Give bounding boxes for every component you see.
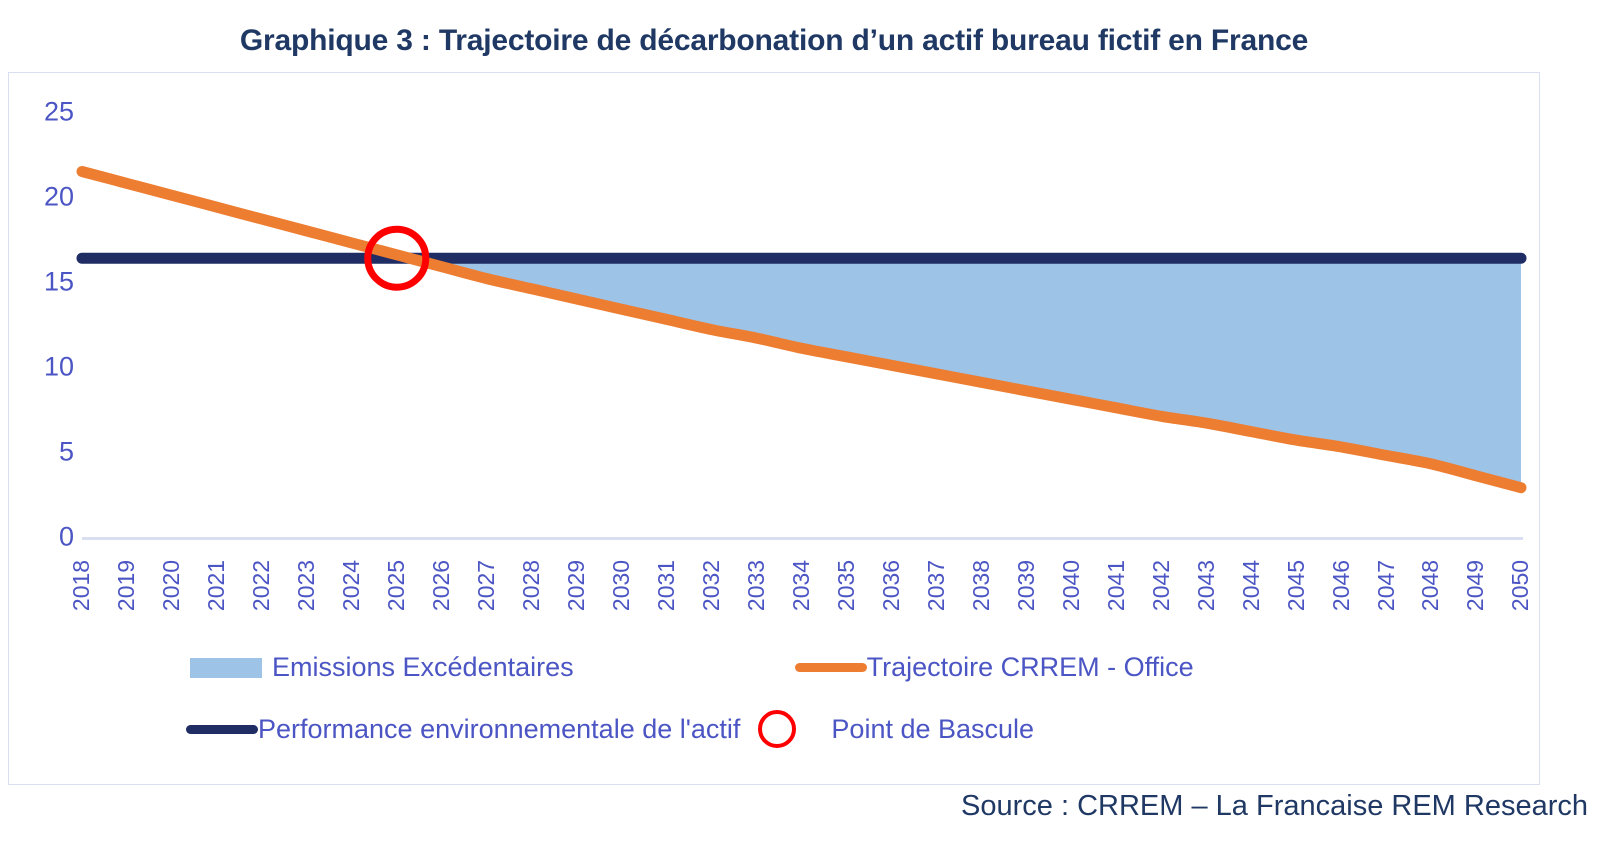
page-title: Graphique 3 : Trajectoire de décarbonati… <box>0 24 1548 58</box>
source-note: Source : CRREM – La Francaise REM Resear… <box>961 790 1588 823</box>
chart-canvas <box>82 112 1521 537</box>
x-axis-tick-2047: 2047 <box>1375 542 1397 628</box>
x-axis-tick-2027: 2027 <box>476 542 498 628</box>
x-axis-tick-2049: 2049 <box>1465 542 1487 628</box>
legend-label-performance-environnementale: Performance environnementale de l'actif <box>258 714 740 745</box>
x-axis-tick-2018: 2018 <box>71 542 93 628</box>
x-axis-tick-2050: 2050 <box>1510 542 1532 628</box>
x-axis-tick-2019: 2019 <box>116 542 138 628</box>
legend-item-point-de-bascule[interactable]: Point de Bascule <box>758 710 1034 748</box>
x-axis-tick-2024: 2024 <box>341 542 363 628</box>
x-axis-tick-2038: 2038 <box>970 542 992 628</box>
x-axis-tick-2039: 2039 <box>1015 542 1037 628</box>
x-axis-tick-2032: 2032 <box>701 542 723 628</box>
y-axis-tick-5: 5 <box>0 437 74 468</box>
y-axis-tick-15: 15 <box>0 267 74 298</box>
legend-item-trajectoire-crrem-office[interactable]: Trajectoire CRREM - Office <box>795 652 1194 683</box>
x-axis-tick-2045: 2045 <box>1285 542 1307 628</box>
chart-page: Graphique 3 : Trajectoire de décarbonati… <box>0 0 1600 857</box>
line-swatch-icon-navy <box>186 725 258 734</box>
x-axis-tick-2035: 2035 <box>835 542 857 628</box>
x-axis-tick-2037: 2037 <box>925 542 947 628</box>
circle-marker-icon <box>758 710 796 748</box>
area-swatch-icon <box>190 658 262 678</box>
x-axis-tick-2028: 2028 <box>521 542 543 628</box>
x-axis-tick-2046: 2046 <box>1330 542 1352 628</box>
x-axis-tick-2043: 2043 <box>1195 542 1217 628</box>
x-axis-tick-2031: 2031 <box>656 542 678 628</box>
x-axis-tick-2044: 2044 <box>1240 542 1262 628</box>
x-axis-tick-2026: 2026 <box>431 542 453 628</box>
x-axis-tick-2034: 2034 <box>791 542 813 628</box>
chart-legend: Emissions Excédentaires Trajectoire CRRE… <box>8 640 1540 760</box>
x-axis-tick-2022: 2022 <box>251 542 273 628</box>
y-axis-tick-10: 10 <box>0 352 74 383</box>
x-axis-tick-2036: 2036 <box>880 542 902 628</box>
x-axis-tick-2042: 2042 <box>1150 542 1172 628</box>
y-axis-tick-25: 25 <box>0 97 74 128</box>
legend-label-emissions-excedentaires: Emissions Excédentaires <box>272 652 574 683</box>
x-axis-tick-2030: 2030 <box>611 542 633 628</box>
x-axis-tick-2021: 2021 <box>206 542 228 628</box>
x-axis-tick-2029: 2029 <box>566 542 588 628</box>
x-axis-tick-2048: 2048 <box>1420 542 1442 628</box>
x-axis-tick-2025: 2025 <box>386 542 408 628</box>
y-axis-tick-0: 0 <box>0 522 74 553</box>
x-axis-line <box>82 537 1523 540</box>
legend-row-2: Performance environnementale de l'actif … <box>8 710 1408 748</box>
legend-label-point-de-bascule: Point de Bascule <box>831 714 1034 745</box>
x-axis-tick-2041: 2041 <box>1105 542 1127 628</box>
legend-label-trajectoire-crrem-office: Trajectoire CRREM - Office <box>867 652 1194 683</box>
legend-row-1: Emissions Excédentaires Trajectoire CRRE… <box>8 652 1408 683</box>
x-axis-tick-2023: 2023 <box>296 542 318 628</box>
x-axis-tick-2033: 2033 <box>746 542 768 628</box>
y-axis-tick-20: 20 <box>0 182 74 213</box>
x-axis-tick-2020: 2020 <box>161 542 183 628</box>
legend-item-emissions-excedentaires[interactable]: Emissions Excédentaires <box>190 652 574 683</box>
plot-area <box>82 112 1521 537</box>
line-swatch-icon-orange <box>795 663 867 672</box>
x-axis-labels: 2018201920202021202220232024202520262027… <box>82 542 1521 632</box>
legend-item-performance-environnementale[interactable]: Performance environnementale de l'actif <box>186 714 740 745</box>
x-axis-tick-2040: 2040 <box>1060 542 1082 628</box>
